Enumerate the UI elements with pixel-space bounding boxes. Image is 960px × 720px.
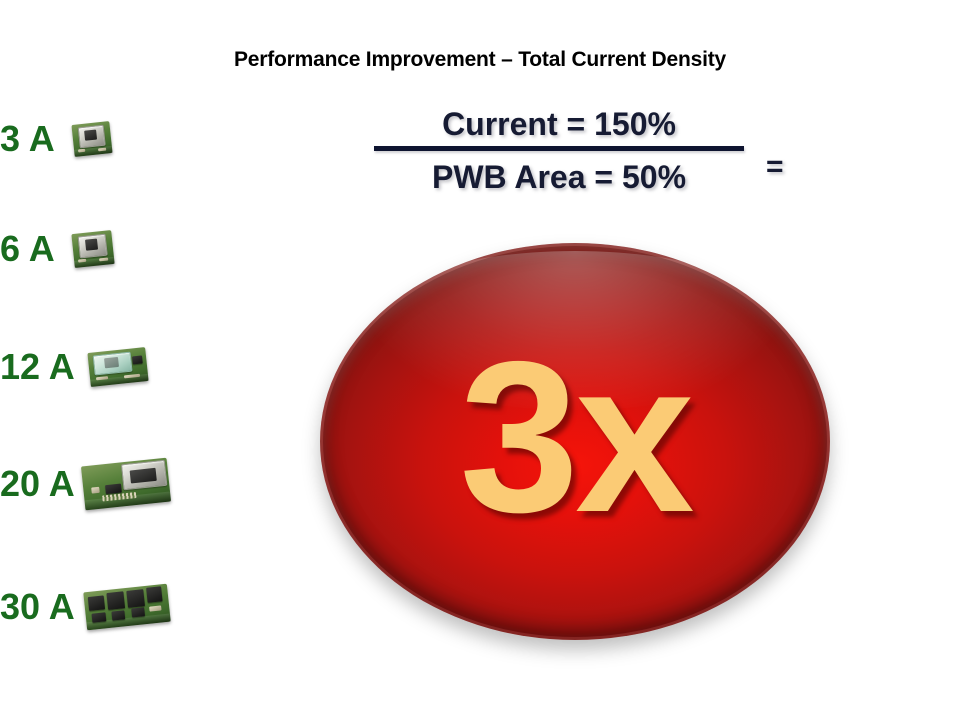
power-stage-chip (146, 586, 162, 602)
current-rating-list: 3 A 6 A 12 A (0, 118, 250, 658)
list-item: 12 A (0, 346, 250, 388)
callout-value-text: 3x (320, 243, 830, 640)
inductor-core (85, 239, 98, 251)
power-stage-chip (87, 595, 104, 611)
power-module-6a-icon (71, 230, 114, 268)
solder-pad (91, 487, 100, 494)
power-stage-chip (111, 610, 125, 620)
power-stage-chip (91, 612, 106, 622)
inductor-core (84, 130, 97, 141)
current-rating-label: 20 A (0, 463, 75, 505)
page-title: Performance Improvement – Total Current … (0, 48, 960, 72)
fraction-denominator: PWB Area = 50% (374, 155, 744, 193)
power-module-30a-icon (83, 584, 171, 631)
inductor-core (104, 357, 119, 368)
controller-chip (105, 484, 122, 495)
list-item: 20 A (0, 462, 250, 506)
current-rating-label: 6 A (0, 228, 55, 270)
power-stage-chip (131, 607, 145, 617)
controller-chip (132, 355, 143, 364)
power-module-12a-icon (87, 347, 148, 387)
power-stage-chip (126, 589, 145, 608)
current-rating-label: 12 A (0, 346, 75, 388)
current-rating-label: 3 A (0, 118, 55, 160)
fraction-bar (374, 146, 744, 151)
power-module-20a-icon (81, 458, 171, 511)
equation-block: Current = 150% PWB Area = 50% = (360, 108, 820, 223)
fraction-numerator: Current = 150% (374, 108, 744, 146)
inductor-core (129, 468, 156, 484)
fraction: Current = 150% PWB Area = 50% (374, 108, 744, 193)
power-stage-chip (106, 591, 125, 610)
list-item: 6 A (0, 228, 250, 270)
result-callout: 3x (320, 243, 830, 640)
current-rating-label: 30 A (0, 586, 75, 628)
power-module-3a-icon (71, 121, 112, 157)
list-item: 3 A (0, 118, 250, 160)
list-item: 30 A (0, 586, 250, 628)
equals-sign: = (766, 150, 784, 184)
slide-canvas: Performance Improvement – Total Current … (0, 0, 960, 720)
